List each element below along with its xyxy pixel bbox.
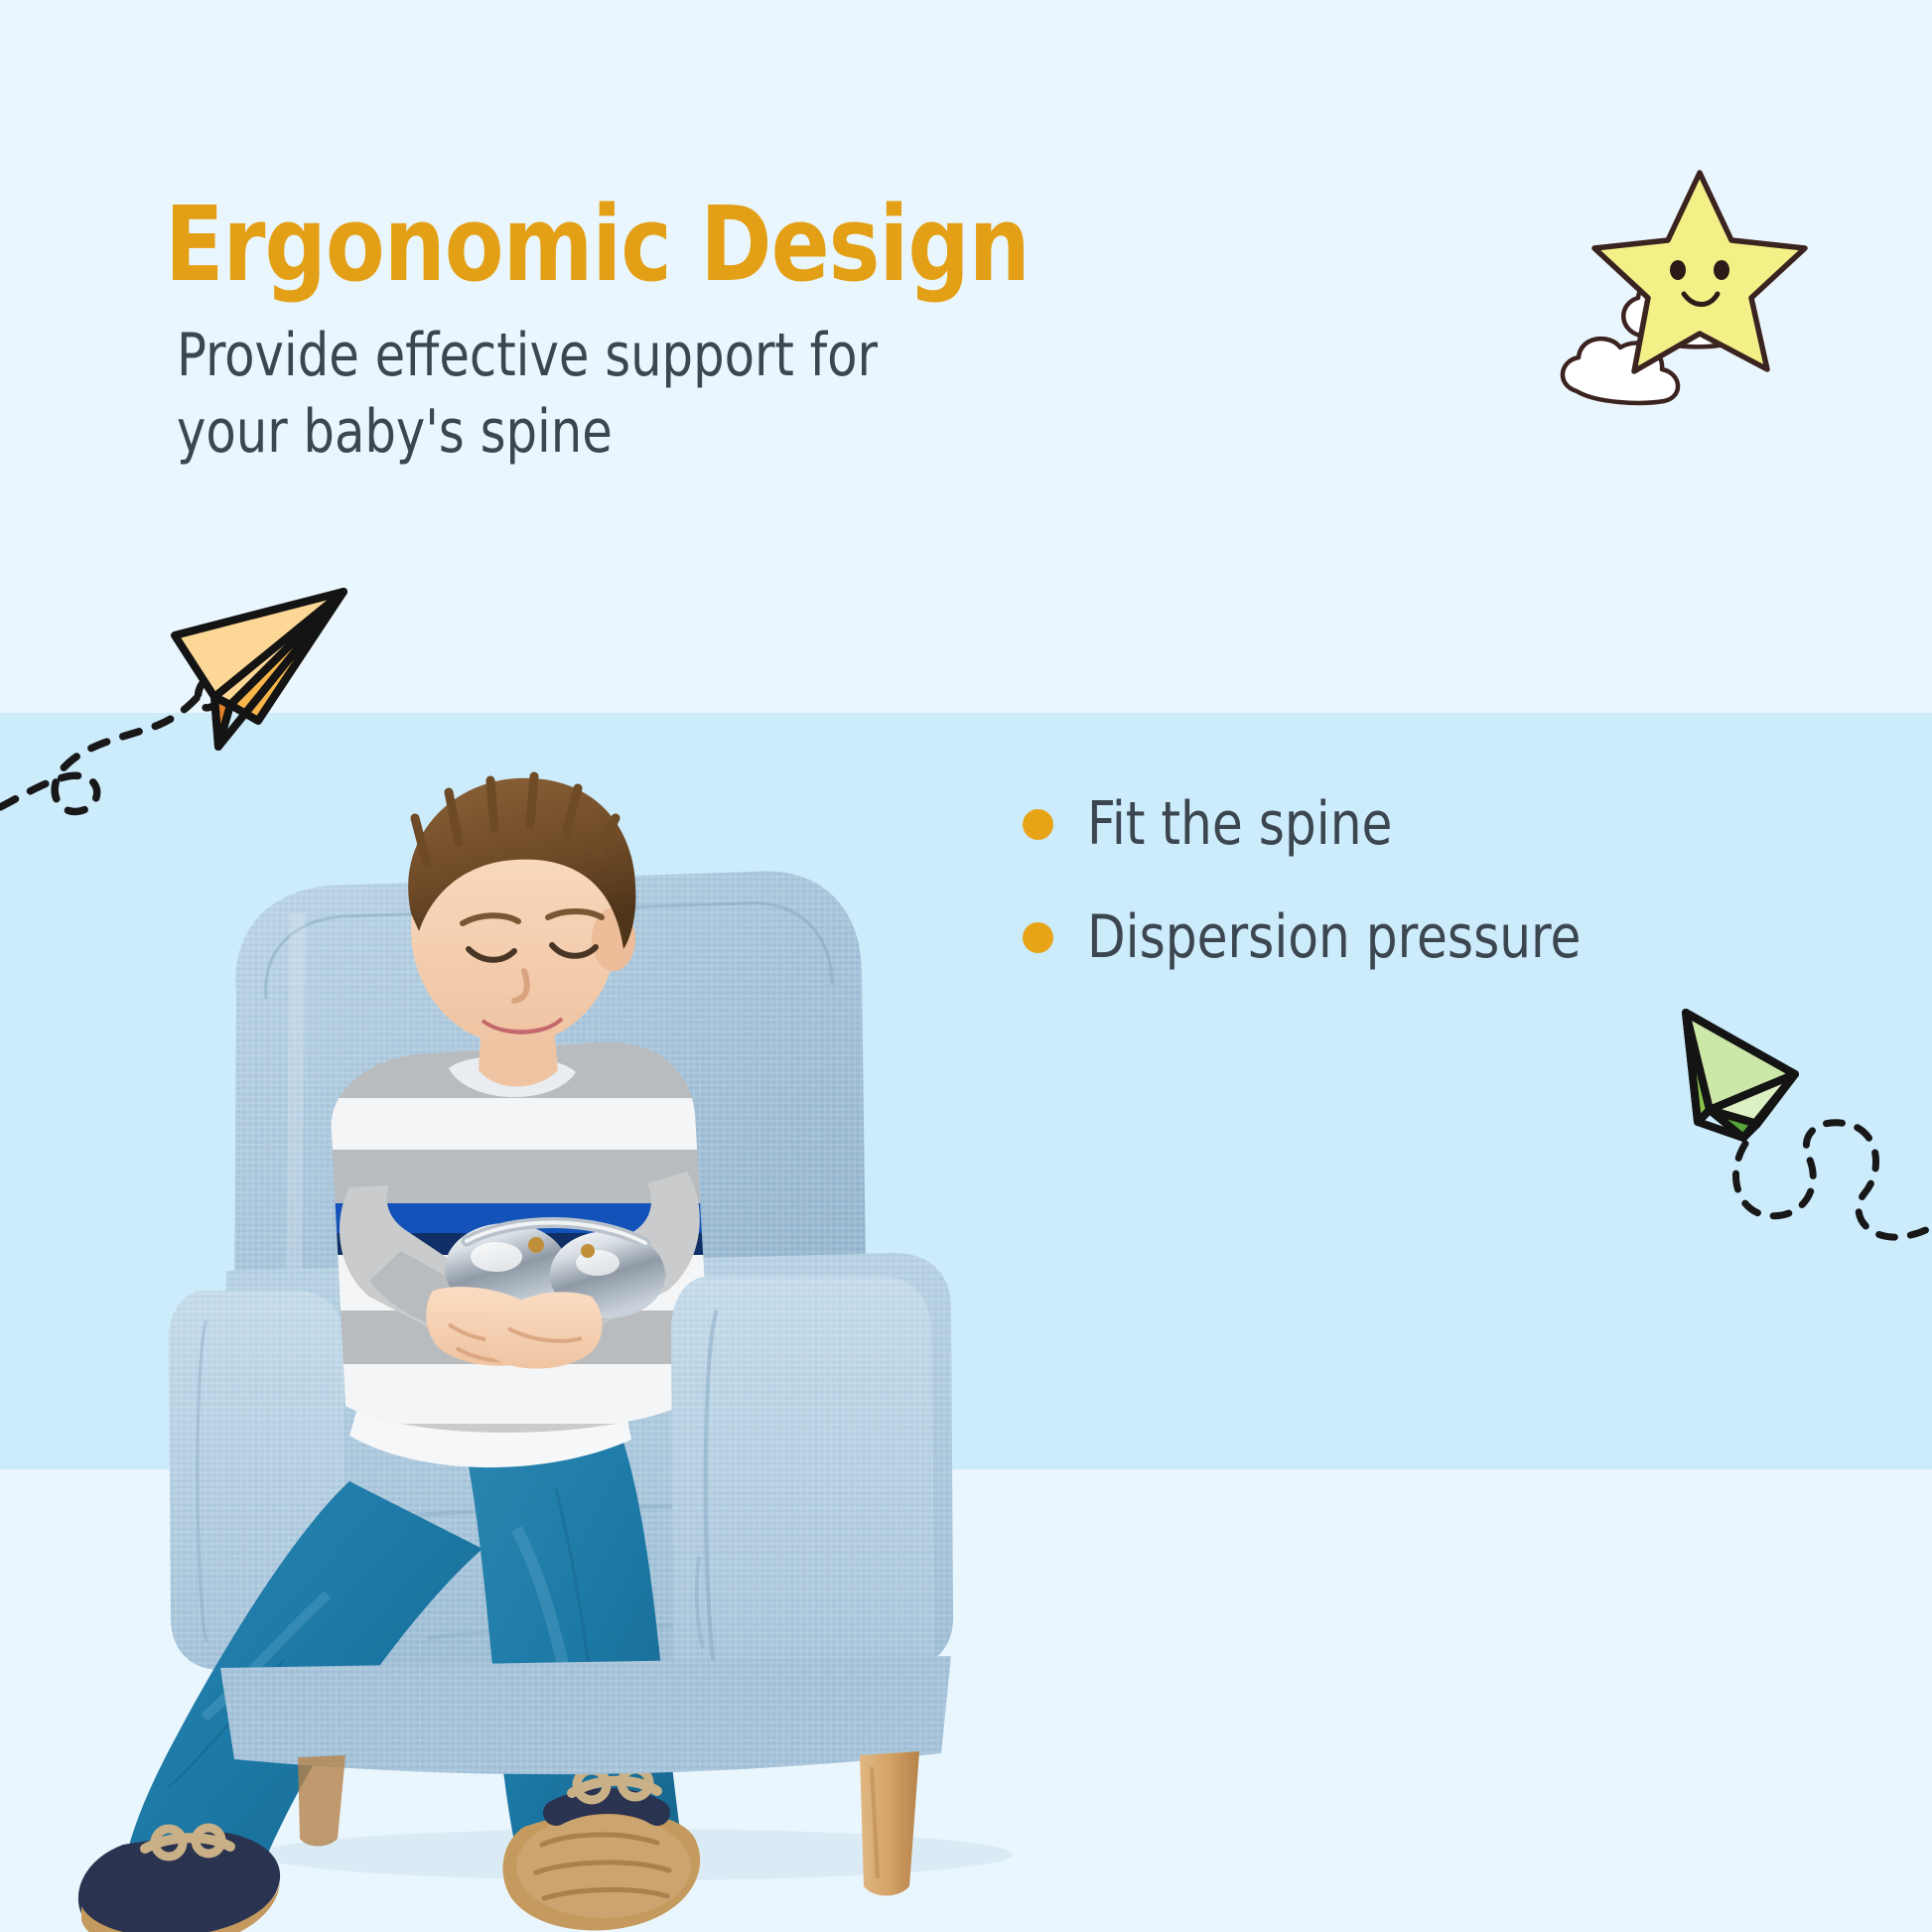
list-item: Fit the spine — [1023, 794, 1618, 854]
bullet-dot-icon — [1023, 922, 1053, 953]
chair-leg-front-right — [860, 1751, 919, 1895]
bullet-dot-icon — [1023, 809, 1053, 840]
orange-paper-plane-decoration — [0, 556, 377, 844]
chair-leg-back-right — [298, 1755, 345, 1847]
feature-list: Fit the spine Dispersion pressure — [1023, 794, 1618, 1021]
feature-label: Fit the spine — [1087, 794, 1392, 854]
child-hands — [426, 1287, 602, 1368]
dashed-trail-icon — [1735, 1123, 1932, 1237]
page-title: Ergonomic Design — [165, 191, 1030, 299]
star-cloud-decoration — [1545, 149, 1853, 407]
subtitle-line-2: your baby's spine — [177, 394, 878, 471]
chair-armrest-right — [671, 1277, 935, 1710]
poster-canvas: Ergonomic Design Provide effective suppo… — [0, 0, 1932, 1932]
paper-plane-icon — [175, 592, 344, 747]
feature-label: Dispersion pressure — [1087, 907, 1581, 967]
shoe-left — [78, 1828, 280, 1932]
list-item: Dispersion pressure — [1023, 907, 1618, 967]
paper-plane-icon — [1686, 1013, 1795, 1138]
green-paper-plane-decoration — [1624, 983, 1932, 1271]
page-subtitle: Provide effective support for your baby'… — [177, 318, 878, 471]
subtitle-line-1: Provide effective support for — [177, 318, 878, 394]
